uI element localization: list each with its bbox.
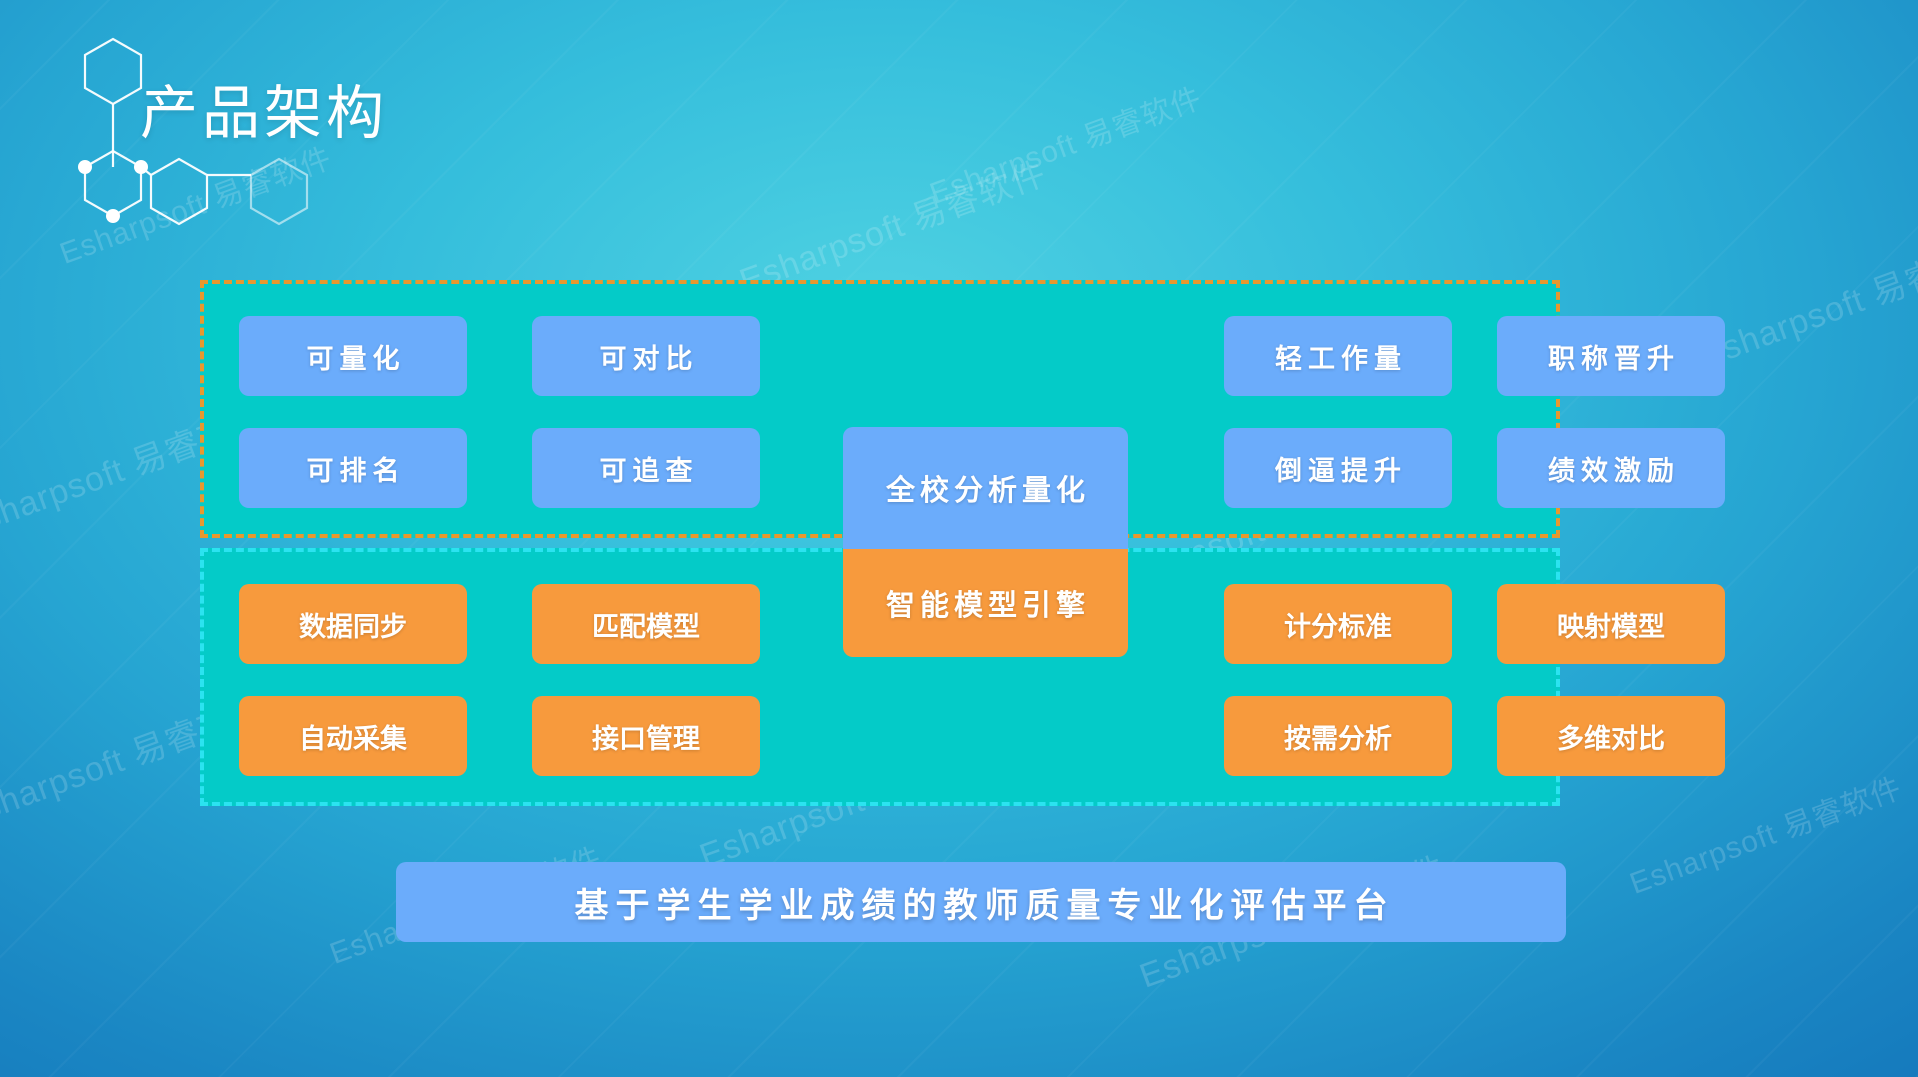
cell-可排名[interactable]: 可排名 [239,428,467,508]
cell-映射模型[interactable]: 映射模型 [1497,584,1725,664]
watermark-text: Esharpsoft 易睿软件 [1622,763,1907,902]
center-box-analysis[interactable]: 全校分析量化 [843,427,1128,549]
cell-按需分析[interactable]: 按需分析 [1224,696,1452,776]
platform-banner: 基于学生学业成绩的教师质量专业化评估平台 [396,862,1566,942]
cell-职称晋升[interactable]: 职称晋升 [1497,316,1725,396]
cell-可追查[interactable]: 可追查 [532,428,760,508]
hexagon-molecule-decoration [55,35,325,265]
center-box-engine[interactable]: 智能模型引擎 [843,549,1128,657]
cell-匹配模型[interactable]: 匹配模型 [532,584,760,664]
page-title: 产品架构 [140,85,388,143]
center-core-stack: 全校分析量化 智能模型引擎 [843,427,1128,657]
watermark-text: Esharpsoft 易睿软件 [922,73,1207,212]
cell-可量化[interactable]: 可量化 [239,316,467,396]
cell-数据同步[interactable]: 数据同步 [239,584,467,664]
cell-计分标准[interactable]: 计分标准 [1224,584,1452,664]
cell-可对比[interactable]: 可对比 [532,316,760,396]
cell-绩效激励[interactable]: 绩效激励 [1497,428,1725,508]
cell-多维对比[interactable]: 多维对比 [1497,696,1725,776]
cell-接口管理[interactable]: 接口管理 [532,696,760,776]
cell-自动采集[interactable]: 自动采集 [239,696,467,776]
cell-轻工作量[interactable]: 轻工作量 [1224,316,1452,396]
cell-倒逼提升[interactable]: 倒逼提升 [1224,428,1452,508]
watermark-text: Esharpsoft 易睿软件 [1692,221,1918,378]
